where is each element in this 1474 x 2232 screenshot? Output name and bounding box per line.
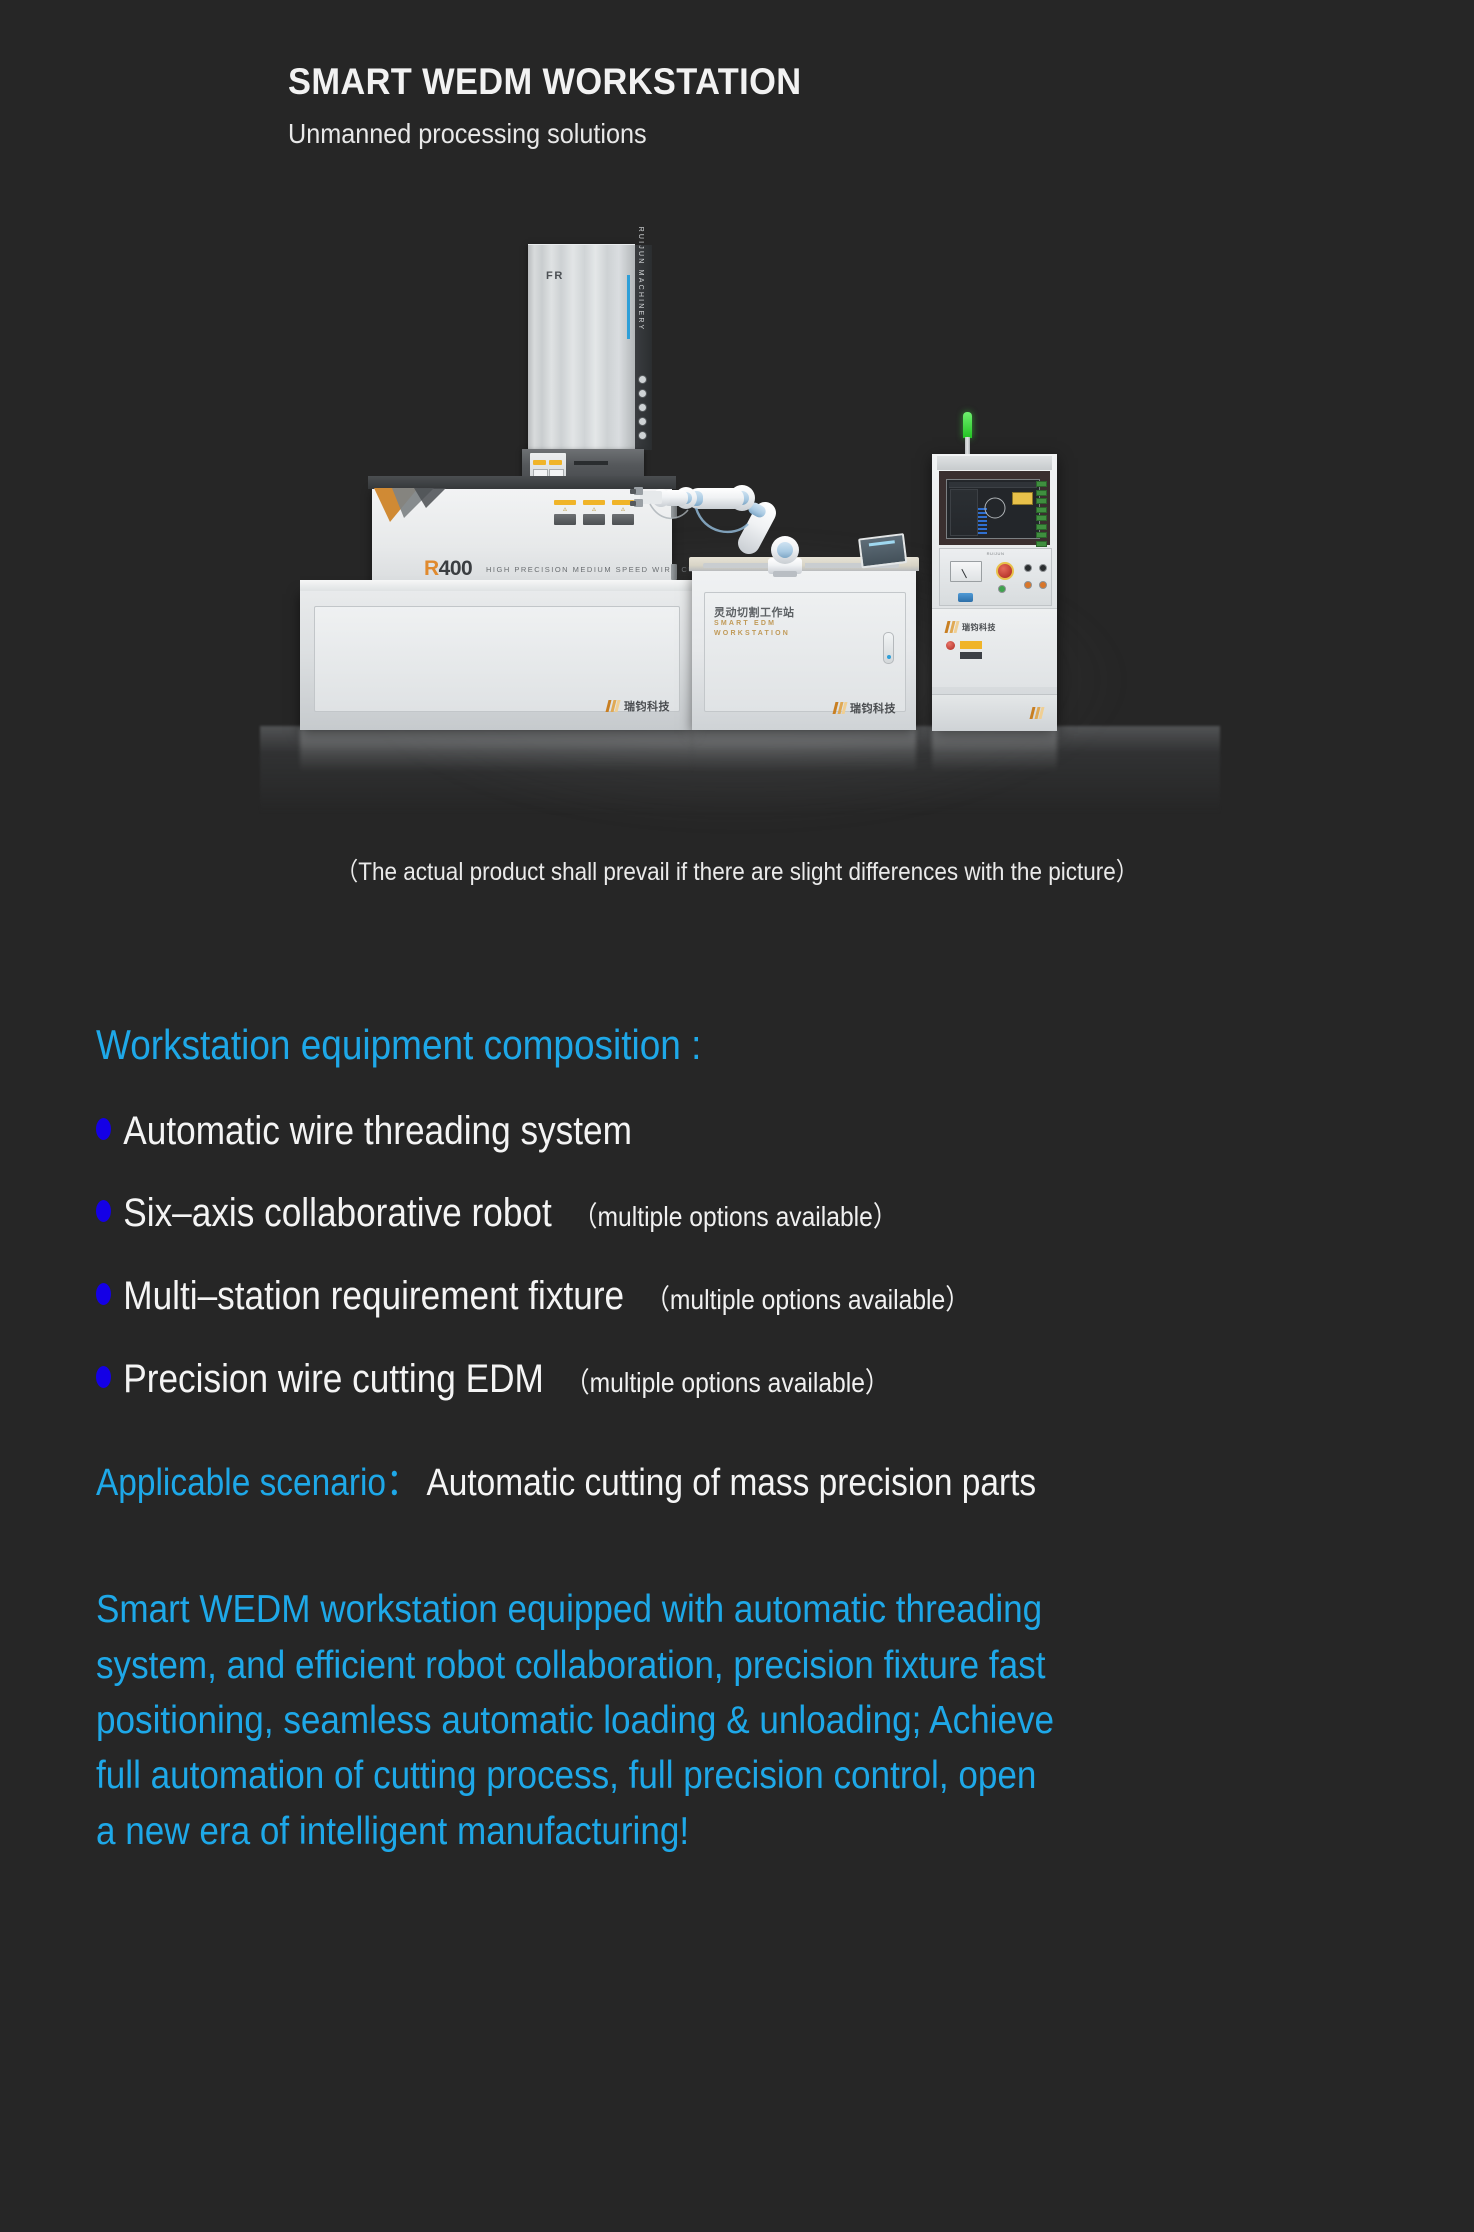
- brand-bars-icon: [1030, 707, 1045, 719]
- product-marketing-page: SMART WEDM WORKSTATION Unmanned processi…: [0, 0, 1474, 2232]
- warning-sticker: [960, 641, 982, 649]
- threading-tower: FR RUIJUN MACHINERY: [528, 244, 635, 450]
- list-item-note: （multiple options available）: [645, 1278, 970, 1318]
- bullet-dot-icon: [96, 1366, 111, 1388]
- brand-logo-control-cabinet: 瑞钧科技: [946, 621, 996, 633]
- brand-logo-cabinet-base: [1031, 707, 1043, 719]
- indicator-lamp-3: [1024, 581, 1032, 589]
- indicator-lamp-2: [1039, 564, 1047, 572]
- page-header: SMART WEDM WORKSTATION Unmanned processi…: [288, 62, 1288, 149]
- spec-plate: [960, 652, 982, 659]
- list-item-note: （multiple options available）: [565, 1361, 890, 1401]
- wire-cut-model-prefix: R: [424, 557, 439, 580]
- wire-cut-machine-body: R400 HIGH PRECISION MEDIUM SPEED WIRE CU…: [372, 488, 672, 595]
- brand-bars-icon: [833, 702, 848, 714]
- wire-cut-control-panel: ⚠ ⚠ ⚠: [554, 500, 634, 525]
- applicable-scenario-label: Applicable scenario：: [96, 1462, 419, 1504]
- bullet-dot-icon: [96, 1200, 111, 1222]
- page-title: SMART WEDM WORKSTATION: [288, 62, 1218, 103]
- control-cabinet-operator-panel: RUIJUN: [939, 548, 1052, 606]
- cnc-screen-bezel: [939, 471, 1050, 545]
- control-cabinet-top-trim: [937, 456, 1052, 470]
- content-section: Workstation equipment composition : Auto…: [96, 1022, 1416, 1859]
- wire-cut-control-1: ⚠: [554, 500, 576, 525]
- wire-cut-base-door: [314, 606, 680, 712]
- threading-btn-2: [549, 460, 562, 465]
- summary-paragraph: Smart WEDM workstation equipped with aut…: [96, 1582, 1055, 1859]
- list-item: Multi–station requirement fixture （multi…: [96, 1275, 1258, 1318]
- brand-name-cn: 瑞钧科技: [962, 622, 996, 633]
- list-item: Six–axis collaborative robot （multiple o…: [96, 1192, 1258, 1235]
- list-item-label: Multi–station requirement fixture: [123, 1275, 624, 1317]
- teach-pendant-screen: [858, 533, 907, 568]
- selector-knob: [958, 593, 973, 602]
- bullet-dot-icon: [96, 1283, 111, 1305]
- page-subtitle: Unmanned processing solutions: [288, 119, 1188, 150]
- brand-name-cn: 瑞钧科技: [850, 700, 896, 716]
- applicable-scenario-row: Applicable scenario：Automatic cutting of…: [96, 1451, 1258, 1506]
- threading-head-slot: [574, 461, 608, 465]
- brand-name-cn: 瑞钧科技: [624, 698, 670, 714]
- indicator-lamp-1: [1024, 564, 1032, 572]
- analog-ammeter-gauge: [950, 561, 982, 582]
- list-item-label: Precision wire cutting EDM: [123, 1358, 544, 1400]
- composition-list: Automatic wire threading system Six–axis…: [96, 1110, 1416, 1401]
- list-item: Automatic wire threading system: [96, 1110, 1258, 1152]
- cnc-control-cabinet: RUIJUN 瑞钧科技: [932, 454, 1057, 730]
- six-axis-robot-arm: [630, 438, 810, 588]
- threading-btn-1: [533, 460, 546, 465]
- control-cabinet-base: [932, 694, 1057, 731]
- workstation-door-handle: [883, 632, 894, 664]
- workstation-name-en-line2: WORKSTATION: [714, 630, 790, 637]
- reflection-workstation: [692, 728, 916, 772]
- edm-workstation-cabinet: 灵动切割工作站 SMART EDM WORKSTATION 瑞钧科技: [692, 570, 916, 730]
- power-indicator: [946, 641, 955, 650]
- list-item: Precision wire cutting EDM （multiple opt…: [96, 1358, 1258, 1401]
- cnc-screen-dialog: [1012, 492, 1033, 505]
- control-cabinet-mid-door: 瑞钧科技: [932, 608, 1057, 687]
- reflection-wire-cut: [300, 728, 692, 772]
- indicator-lamp-4: [1039, 581, 1047, 589]
- brand-bars-icon: [945, 621, 960, 633]
- indicator-lamp-5: [998, 585, 1006, 593]
- brand-logo-wire-cut: 瑞钧科技: [607, 698, 670, 714]
- list-item-note: （multiple options available）: [573, 1195, 898, 1235]
- teach-pendant: [858, 534, 904, 573]
- brand-logo-workstation: 瑞钧科技: [834, 700, 896, 716]
- signal-light-green: [963, 412, 972, 438]
- reflection-control-cabinet: [932, 728, 1057, 772]
- threading-tower-brand-mark: FR: [546, 270, 564, 282]
- cnc-screen-parameter-pane: [950, 489, 978, 536]
- wire-cut-base-cabinet: 瑞钧科技: [300, 590, 692, 730]
- cnc-screen-toolpath-circle: [984, 497, 1005, 518]
- signal-light-stem: [965, 437, 970, 454]
- emergency-stop-button: [996, 562, 1014, 580]
- threading-tower-blue-stripe: [627, 275, 630, 339]
- list-item-label: Six–axis collaborative robot: [123, 1192, 551, 1234]
- control-cabinet-badge: RUIJUN: [987, 551, 1005, 556]
- wire-cut-corner-accent: [374, 488, 456, 524]
- workstation-name-en-line1: SMART EDM: [714, 620, 776, 627]
- wire-cut-model-number: 400: [439, 557, 473, 580]
- brand-bars-icon: [606, 700, 621, 712]
- cnc-screen-toolbar: [949, 482, 1037, 488]
- list-item-label: Automatic wire threading system: [123, 1110, 632, 1152]
- composition-heading: Workstation equipment composition :: [96, 1022, 1258, 1068]
- wire-cut-control-2: ⚠: [583, 500, 605, 525]
- cnc-screen: [946, 479, 1040, 539]
- applicable-scenario-value: Automatic cutting of mass precision part…: [426, 1462, 1036, 1504]
- signal-tower-light: [963, 412, 972, 454]
- wire-cut-model-label: R400: [424, 557, 472, 581]
- bullet-dot-icon: [96, 1118, 111, 1140]
- threading-tower-side-text: RUIJUN MACHINERY: [637, 227, 644, 332]
- threading-tower-indicator-dots: [638, 375, 647, 440]
- product-photo: FR RUIJUN MACHINERY: [300, 240, 1180, 820]
- product-image-caption: （The actual product shall prevail if the…: [74, 852, 1401, 888]
- workstation-name-cn: 灵动切割工作站: [714, 604, 795, 620]
